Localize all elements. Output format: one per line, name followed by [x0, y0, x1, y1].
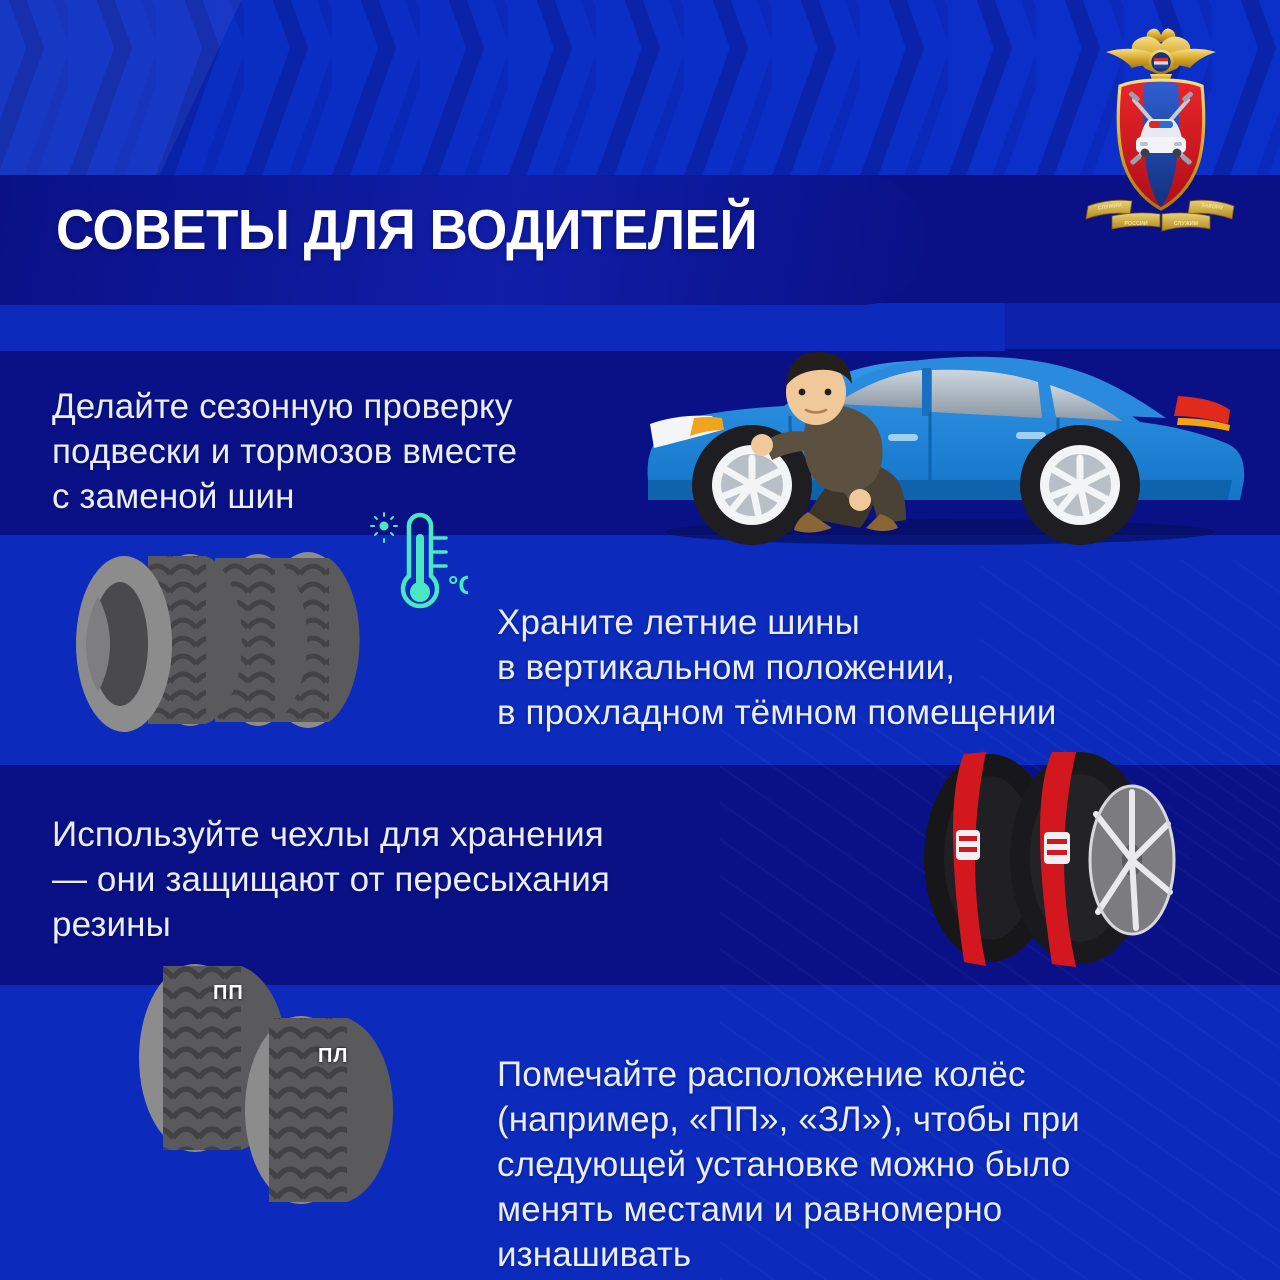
header-diagonal-highlight: [0, 0, 420, 175]
infographic-canvas: СОВЕТЫ ДЛЯ ВОДИТЕЛЕЙ: [0, 0, 1280, 1280]
tip-1-text: Делайте сезонную проверку подвески и тор…: [52, 384, 652, 519]
page-title: СОВЕТЫ ДЛЯ ВОДИТЕЛЕЙ: [56, 202, 757, 259]
illustration-thermometer: °C: [368, 512, 468, 622]
tip-4-text: Помечайте расположение колёс (например, …: [497, 1052, 1157, 1277]
tip-3-text: Используйте чехлы для хранения — они защ…: [52, 812, 712, 947]
shield-icon: [1118, 80, 1204, 209]
thermometer-icon: [403, 515, 446, 606]
tire-front: [76, 556, 172, 732]
illustration-marked-tires: [95, 960, 435, 1210]
sun-icon: [371, 513, 397, 542]
illustration-stacked-tires: [40, 540, 400, 740]
mvd-emblem: СЛУЖИМ ЗАКОНУ РОССИИ СЛУЖИМ: [1082, 18, 1240, 233]
temperature-unit-label: °C: [448, 570, 468, 600]
illustration-tire-covers: [880, 752, 1210, 967]
illustration-car-tire-check: [630, 300, 1250, 545]
tire-cover-front: [1010, 752, 1174, 967]
rear-wheel: [1020, 425, 1140, 545]
tip-2-text: Храните летние шины в вертикальном полож…: [497, 600, 1177, 735]
double-headed-eagle-icon: [1106, 28, 1216, 82]
ribbon-text-center-left: РОССИИ: [1124, 221, 1147, 227]
wheel-mark-label-front-left: ПЛ: [318, 1045, 348, 1068]
wheel-mark-label-front-right: ПП: [213, 982, 244, 1005]
ribbon-text-center-right: СЛУЖИМ: [1174, 221, 1199, 227]
